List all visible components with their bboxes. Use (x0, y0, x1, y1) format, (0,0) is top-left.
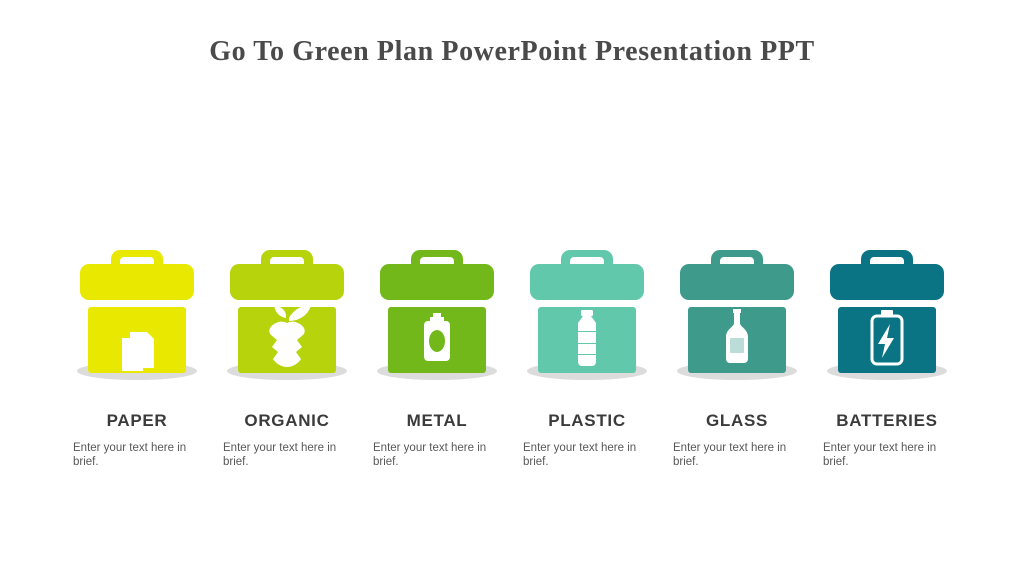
bin-graphic-organic (212, 222, 362, 392)
page-title: Go To Green Plan PowerPoint Presentation… (0, 36, 1024, 68)
category-label: PAPER (107, 411, 168, 431)
bin-lid (80, 264, 194, 300)
category-label: METAL (407, 411, 468, 431)
category-description: Enter your text here in brief. (73, 441, 201, 469)
bin-lid (230, 264, 344, 300)
recycling-bins-row: PAPER Enter your text here in brief. (62, 222, 962, 512)
bin-lid (680, 264, 794, 300)
category-label: PLASTIC (548, 411, 626, 431)
category-item-paper[interactable]: PAPER Enter your text here in brief. (62, 222, 212, 469)
slide-canvas: Go To Green Plan PowerPoint Presentation… (0, 0, 1024, 576)
bin-lid (380, 264, 494, 300)
bin-graphic-glass (662, 222, 812, 392)
category-description: Enter your text here in brief. (823, 441, 951, 469)
category-description: Enter your text here in brief. (523, 441, 651, 469)
bin-graphic-batteries (812, 222, 962, 392)
bin-graphic-paper (62, 222, 212, 392)
category-label: ORGANIC (244, 411, 329, 431)
paper-document-icon-front (122, 338, 143, 371)
category-item-plastic[interactable]: PLASTIC Enter your text here in brief. (512, 222, 662, 469)
category-label: BATTERIES (836, 411, 937, 431)
bin-lid (830, 264, 944, 300)
bin-graphic-plastic (512, 222, 662, 392)
category-description: Enter your text here in brief. (673, 441, 801, 469)
category-description: Enter your text here in brief. (223, 441, 351, 469)
category-item-batteries[interactable]: BATTERIES Enter your text here in brief. (812, 222, 962, 469)
category-item-metal[interactable]: METAL Enter your text here in brief. (362, 222, 512, 469)
bin-graphic-metal (362, 222, 512, 392)
category-description: Enter your text here in brief. (373, 441, 501, 469)
bin-lid (530, 264, 644, 300)
category-label: GLASS (706, 411, 768, 431)
category-item-organic[interactable]: ORGANIC Enter your text here in brief. (212, 222, 362, 469)
category-item-glass[interactable]: GLASS Enter your text here in brief. (662, 222, 812, 469)
